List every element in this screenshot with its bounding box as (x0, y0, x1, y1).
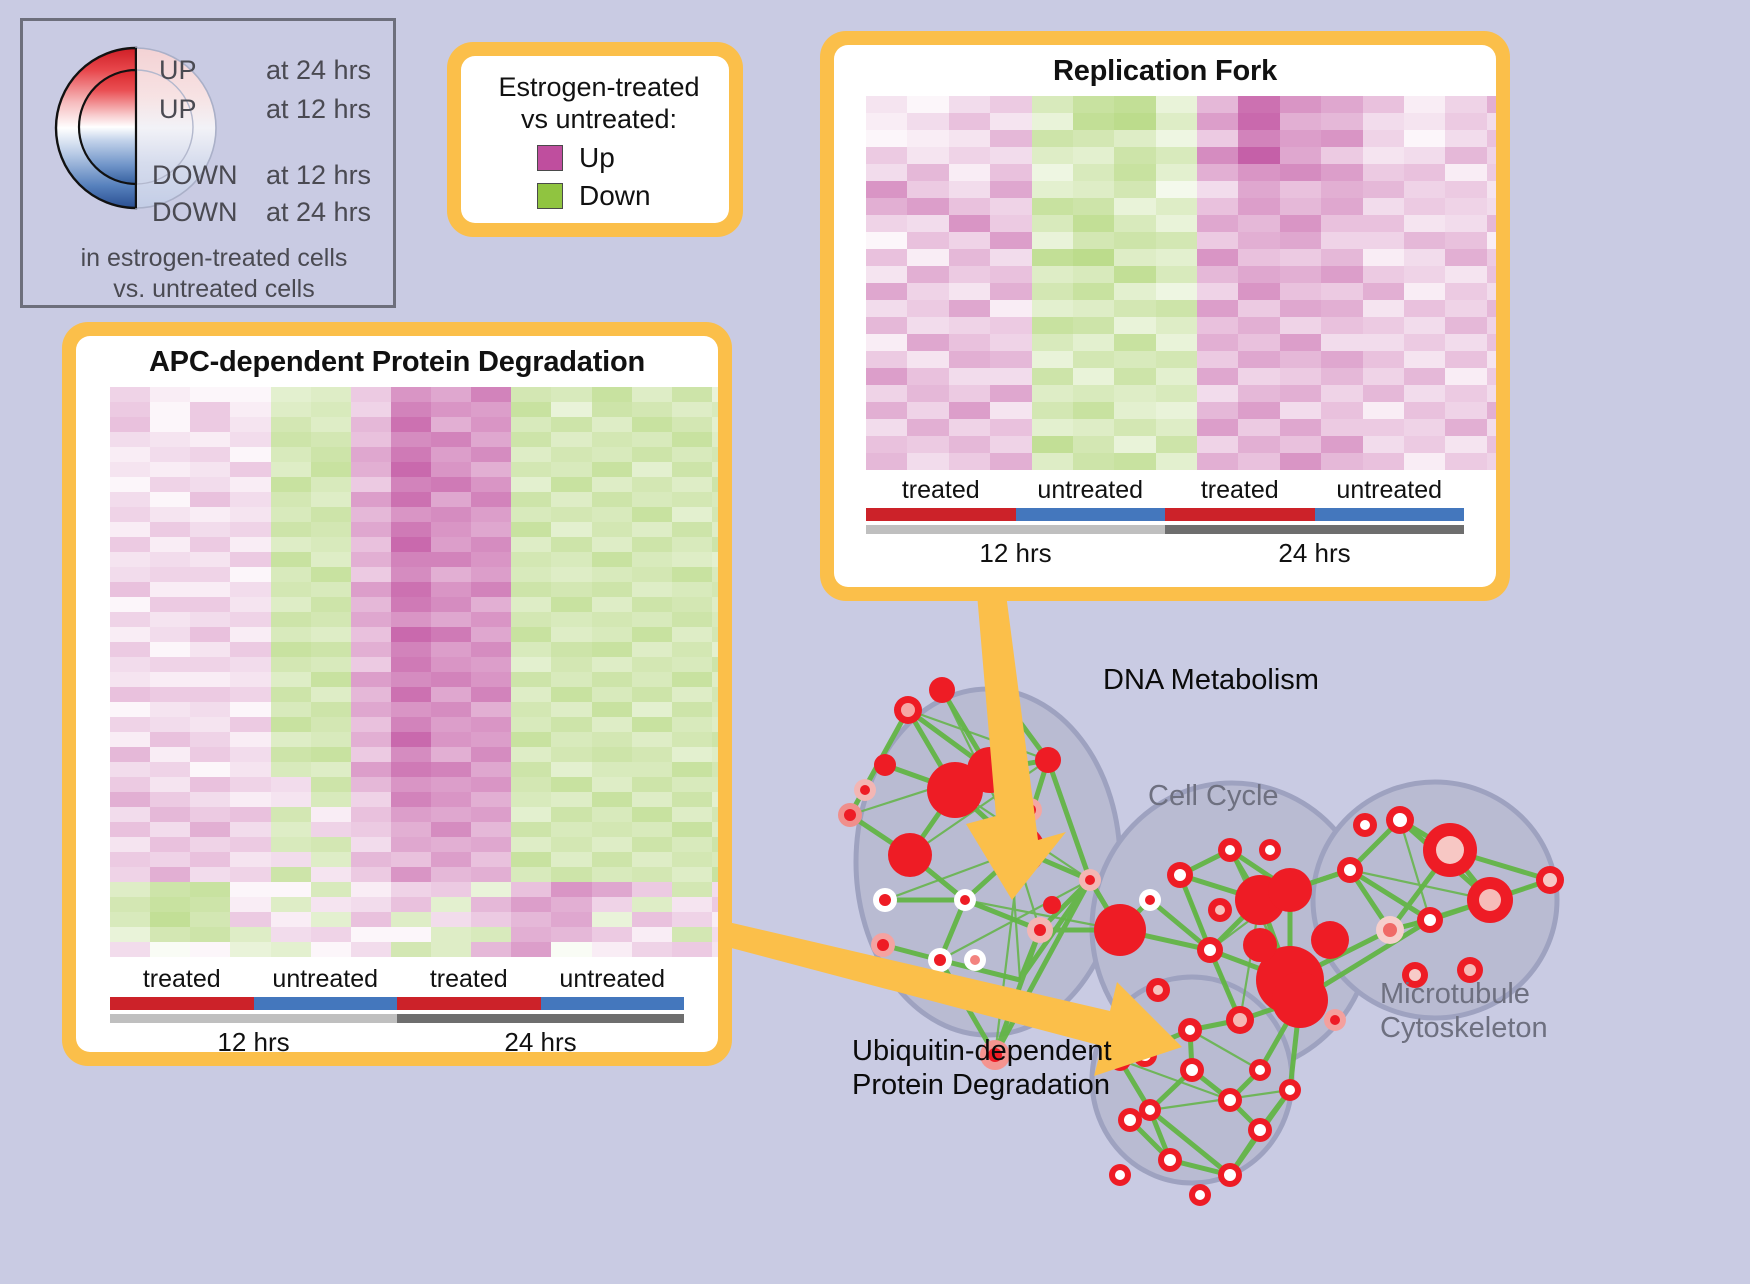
heatmap-cell (1197, 266, 1238, 283)
heatmap-cell (431, 867, 471, 882)
heatmap-cell (110, 792, 150, 807)
heatmap-cell (271, 582, 311, 597)
heatmap-cell (311, 402, 351, 417)
heatmap-cell (511, 537, 551, 552)
heatmap-cell (866, 232, 907, 249)
heatmap-cell (551, 732, 591, 747)
heatmap-cell (471, 402, 511, 417)
heatmap-cell (1445, 96, 1486, 113)
heatmap-cell (190, 777, 230, 792)
heatmap-cell (190, 687, 230, 702)
heatmap-cell (311, 882, 351, 897)
heatmap-cell (949, 385, 990, 402)
heatmap-cell (866, 453, 907, 470)
heatmap-cell (271, 822, 311, 837)
heatmap-cell (1445, 300, 1486, 317)
heatmap-cell (110, 432, 150, 447)
heatmap-cell (351, 507, 391, 522)
heatmap-cell (351, 792, 391, 807)
heatmap-cell (1280, 232, 1321, 249)
heatmap-cell (271, 552, 311, 567)
heatmap-cell (150, 582, 190, 597)
heatmap-cell (990, 351, 1031, 368)
heatmap-cell (471, 912, 511, 927)
heatmap-cell (351, 747, 391, 762)
heatmap-cell (190, 402, 230, 417)
heatmap-cell (1114, 215, 1155, 232)
heatmap-cell (592, 447, 632, 462)
heatmap-cell (271, 762, 311, 777)
heatmap-cell (311, 732, 351, 747)
group-label: treated (1165, 476, 1315, 505)
heatmap-cell (866, 419, 907, 436)
heatmap-cell (311, 597, 351, 612)
heatmap-cell (471, 942, 511, 957)
heatmap-cell (471, 462, 511, 477)
heatmap-cell (150, 792, 190, 807)
heatmap-cell (632, 552, 672, 567)
heatmap-cell (866, 130, 907, 147)
heatmap-cell (230, 897, 270, 912)
heatmap-cell (351, 762, 391, 777)
heatmap-cell (632, 492, 672, 507)
legend-item-up-label: Up (579, 142, 615, 174)
heatmap-cell (351, 552, 391, 567)
heatmap-cell (1445, 385, 1486, 402)
heatmap-cell (1197, 300, 1238, 317)
heatmap-cell (990, 181, 1031, 198)
heatmap-cell (1197, 385, 1238, 402)
heatmap-cell (672, 852, 712, 867)
panel-apc-title: APC-dependent Protein Degradation (76, 336, 718, 379)
heatmap-cell (271, 717, 311, 732)
network-svg (790, 600, 1750, 1279)
heatmap-cell (511, 612, 551, 627)
heatmap-cell (672, 687, 712, 702)
heatmap-cell (230, 942, 270, 957)
legend-updown-heading-line2: vs untreated: (479, 104, 719, 136)
heatmap-cell (551, 777, 591, 792)
heatmap-cell (1445, 147, 1486, 164)
heatmap-cell (592, 927, 632, 942)
heatmap-cell (351, 462, 391, 477)
heatmap-cell (471, 732, 511, 747)
heatmap-cell (949, 147, 990, 164)
heatmap-cell (1238, 130, 1279, 147)
heatmap-cell (712, 537, 718, 552)
heatmap-cell (712, 837, 718, 852)
heatmap-cell (907, 198, 948, 215)
group-label: untreated (1016, 476, 1166, 505)
heatmap-cell (1321, 351, 1362, 368)
heatmap-cell (271, 522, 311, 537)
heatmap-cell (511, 807, 551, 822)
heatmap-cell (110, 762, 150, 777)
heatmap-cell (271, 492, 311, 507)
heatmap-cell (1032, 334, 1073, 351)
heatmap-cell (1114, 113, 1155, 130)
heatmap-cell (672, 822, 712, 837)
heatmap-cell (1197, 249, 1238, 266)
heatmap-cell (712, 552, 718, 567)
heatmap-cell (471, 747, 511, 762)
heatmap-cell (431, 387, 471, 402)
heatmap-cell (351, 657, 391, 672)
heatmap-cell (1156, 198, 1197, 215)
heatmap-cell (150, 597, 190, 612)
heatmap-cell (1073, 385, 1114, 402)
heatmap-cell (551, 432, 591, 447)
heatmap-cell (1197, 453, 1238, 470)
heatmap-cell (391, 537, 431, 552)
heatmap-cell (190, 582, 230, 597)
heatmap-cell (511, 777, 551, 792)
heatmap-cell (311, 762, 351, 777)
heatmap-cell (1363, 334, 1404, 351)
heatmap-cell (1363, 232, 1404, 249)
heatmap-cell (551, 687, 591, 702)
heatmap-cell (271, 837, 311, 852)
heatmap-cell (592, 387, 632, 402)
heatmap-cell (712, 912, 718, 927)
heatmap-cell (1032, 130, 1073, 147)
heatmap-cell (1156, 436, 1197, 453)
heatmap-cell (431, 657, 471, 672)
heatmap-cell (1156, 96, 1197, 113)
heatmap-cell (592, 882, 632, 897)
heatmap-cell (949, 215, 990, 232)
heatmap-cell (230, 462, 270, 477)
heatmap-cell (592, 582, 632, 597)
heatmap-cell (190, 732, 230, 747)
heatmap-cell (431, 687, 471, 702)
heatmap-cell (632, 672, 672, 687)
heatmap-cell (271, 597, 311, 612)
heatmap-cell (672, 447, 712, 462)
heatmap-cell (110, 582, 150, 597)
cluster-label-dna-metabolism: DNA Metabolism (1103, 664, 1319, 698)
heatmap-cell (1032, 283, 1073, 300)
heatmap-cell (1445, 198, 1486, 215)
time-label: 12 hrs (110, 1027, 397, 1052)
heatmap-cell (271, 642, 311, 657)
heatmap-cell (110, 552, 150, 567)
heatmap-cell (431, 417, 471, 432)
heatmap-cell (431, 492, 471, 507)
cluster-label-cell-cycle: Cell Cycle (1148, 780, 1279, 814)
heatmap-cell (311, 522, 351, 537)
legend-caption-line1: in estrogen-treated cells (59, 243, 369, 274)
heatmap-cell (907, 453, 948, 470)
heatmap-cell (990, 385, 1031, 402)
heatmap-cell (511, 432, 551, 447)
heatmap-cell (907, 147, 948, 164)
heatmap-cell (110, 627, 150, 642)
heatmap-cell (990, 334, 1031, 351)
heatmap-cell (190, 717, 230, 732)
heatmap-cell (672, 507, 712, 522)
heatmap-cell (866, 164, 907, 181)
heatmap-cell (949, 130, 990, 147)
heatmap-cell (949, 334, 990, 351)
heatmap-cell (190, 432, 230, 447)
heatmap-cell (150, 642, 190, 657)
heatmap-cell (431, 612, 471, 627)
heatmap-cell (471, 537, 511, 552)
heatmap-cell (391, 852, 431, 867)
heatmap-cell (712, 432, 718, 447)
heatmap-cell (110, 852, 150, 867)
heatmap-cell (712, 942, 718, 957)
heatmap-cell (150, 777, 190, 792)
heatmap-cell (1114, 130, 1155, 147)
heatmap-cell (271, 462, 311, 477)
group-color-bars-replication (866, 508, 1464, 521)
heatmap-cell (1487, 402, 1496, 419)
heatmap-cell (1156, 402, 1197, 419)
heatmap-cell (511, 687, 551, 702)
heatmap-cell (150, 867, 190, 882)
heatmap-cell (1114, 402, 1155, 419)
heatmap-cell (1156, 215, 1197, 232)
heatmap-cell (391, 417, 431, 432)
legend-updown-heading-line1: Estrogen-treated (479, 72, 719, 104)
heatmap-cell (1404, 130, 1445, 147)
heatmap-cell (271, 732, 311, 747)
heatmap-cell (1156, 368, 1197, 385)
heatmap-cell (190, 672, 230, 687)
heatmap-cell (230, 552, 270, 567)
heatmap-cell (672, 537, 712, 552)
heatmap-cell (311, 552, 351, 567)
heatmap-cell (1073, 436, 1114, 453)
heatmap-cell (1238, 419, 1279, 436)
heatmap-cell (150, 732, 190, 747)
legend-row-state-3: DOWN (152, 197, 237, 228)
heatmap-cell (1280, 181, 1321, 198)
heatmap-cell (907, 317, 948, 334)
heatmap-cell (511, 762, 551, 777)
heatmap-cell (712, 597, 718, 612)
heatmap-cell (431, 822, 471, 837)
heatmap-cell (949, 198, 990, 215)
heatmap-cell (150, 837, 190, 852)
group-color-bars-apc (110, 997, 684, 1010)
heatmap-cell (551, 567, 591, 582)
heatmap-cell (511, 582, 551, 597)
heatmap-cell (712, 702, 718, 717)
heatmap-cell (471, 657, 511, 672)
group-label: treated (397, 965, 541, 994)
group-label: untreated (1315, 476, 1465, 505)
heatmap-cell (907, 283, 948, 300)
heatmap-cell (907, 419, 948, 436)
heatmap-cell (511, 732, 551, 747)
heatmap-cell (866, 317, 907, 334)
heatmap-cell (1363, 351, 1404, 368)
heatmap-cell (1032, 351, 1073, 368)
heatmap-cell (351, 897, 391, 912)
heatmap-cell (431, 462, 471, 477)
time-color-bar (110, 1014, 397, 1023)
heatmap-cell (150, 672, 190, 687)
heatmap-cell (632, 387, 672, 402)
heatmap-cell (351, 522, 391, 537)
heatmap-cell (1321, 402, 1362, 419)
heatmap-cell (271, 702, 311, 717)
heatmap-cell (471, 507, 511, 522)
heatmap-cell (311, 612, 351, 627)
heatmap-cell (1487, 147, 1496, 164)
heatmap-cell (1032, 300, 1073, 317)
heatmap-cell (431, 552, 471, 567)
legend-updown-box: Estrogen-treated vs untreated: Up Down (447, 42, 743, 237)
heatmap-cell (1238, 113, 1279, 130)
heatmap-cell (551, 462, 591, 477)
heatmap-cell (1073, 198, 1114, 215)
heatmap-cell (311, 792, 351, 807)
heatmap-cell (1321, 283, 1362, 300)
heatmap-cell (110, 522, 150, 537)
heatmap-cell (150, 687, 190, 702)
heatmap-cell (551, 717, 591, 732)
heatmap-cell (230, 402, 270, 417)
heatmap-cell (311, 492, 351, 507)
heatmap-cell (1156, 300, 1197, 317)
heatmap-cell (110, 717, 150, 732)
heatmap-cell (1114, 317, 1155, 334)
heatmap-cell (592, 702, 632, 717)
heatmap-cell (110, 417, 150, 432)
heatmap-cell (351, 912, 391, 927)
heatmap-cell (351, 447, 391, 462)
heatmap-cell (1487, 266, 1496, 283)
heatmap-cell (230, 717, 270, 732)
heatmap-cell (1445, 368, 1486, 385)
heatmap-cell (391, 702, 431, 717)
heatmap-cell (1238, 283, 1279, 300)
heatmap-cell (990, 419, 1031, 436)
heatmap-cell (1032, 419, 1073, 436)
heatmap-cell (271, 942, 311, 957)
heatmap-cell (110, 867, 150, 882)
heatmap-cell (110, 567, 150, 582)
heatmap-cell (150, 477, 190, 492)
heatmap-cell (150, 537, 190, 552)
heatmap-cell (907, 351, 948, 368)
heatmap-cell (230, 657, 270, 672)
heatmap-cell (391, 732, 431, 747)
heatmap-cell (511, 852, 551, 867)
legend-row-time-1: at 12 hrs (266, 94, 371, 125)
heatmap-cell (431, 792, 471, 807)
heatmap-cell (1487, 368, 1496, 385)
heatmap-cell (551, 852, 591, 867)
time-color-bars-apc (110, 1014, 684, 1023)
heatmap-cell (592, 912, 632, 927)
heatmap-cell (632, 582, 672, 597)
heatmap-cell (511, 942, 551, 957)
heatmap-cell (1404, 181, 1445, 198)
heatmap-cell (391, 627, 431, 642)
heatmap-cell (311, 822, 351, 837)
heatmap-cell (949, 249, 990, 266)
heatmap-cell (110, 747, 150, 762)
heatmap-cell (551, 417, 591, 432)
heatmap-cell (1032, 266, 1073, 283)
heatmap-cell (110, 402, 150, 417)
heatmap-cell (511, 822, 551, 837)
heatmap-cell (391, 792, 431, 807)
heatmap-cell (311, 477, 351, 492)
heatmap-cell (1114, 385, 1155, 402)
heatmap-cell (551, 792, 591, 807)
heatmap-cell (1156, 181, 1197, 198)
heatmap-cell (311, 702, 351, 717)
heatmap-cell (271, 852, 311, 867)
heatmap-cell (1363, 130, 1404, 147)
heatmap-cell (990, 249, 1031, 266)
axis-replication: treateduntreatedtreateduntreated 12 hrs2… (866, 476, 1464, 569)
heatmap-cell (391, 912, 431, 927)
heatmap-cell (471, 492, 511, 507)
heatmap-cell (1321, 181, 1362, 198)
heatmap-cell (907, 249, 948, 266)
heatmap-cell (1156, 334, 1197, 351)
cluster-label-microtubule-cytoskeleton: Microtubule Cytoskeleton (1380, 978, 1548, 1045)
heatmap-cell (551, 912, 591, 927)
heatmap-cell (471, 627, 511, 642)
heatmap-cell (230, 777, 270, 792)
heatmap-cell (632, 522, 672, 537)
heatmap-cell (110, 732, 150, 747)
heatmap-cell (949, 96, 990, 113)
heatmap-cell (271, 447, 311, 462)
heatmap-cell (1487, 351, 1496, 368)
heatmap-cell (1445, 334, 1486, 351)
heatmap-cell (1073, 249, 1114, 266)
heatmap-cell (190, 747, 230, 762)
heatmap-cell (1238, 453, 1279, 470)
heatmap-cell (391, 687, 431, 702)
heatmap-cell (431, 537, 471, 552)
heatmap-cell (551, 867, 591, 882)
heatmap-cell (632, 432, 672, 447)
heatmap-cell (1280, 113, 1321, 130)
heatmap-cell (672, 462, 712, 477)
heatmap-cell (391, 882, 431, 897)
heatmap-cell (230, 642, 270, 657)
heatmap-cell (271, 927, 311, 942)
heatmap-cell (907, 164, 948, 181)
heatmap-cell (391, 672, 431, 687)
heatmap-cell (1073, 351, 1114, 368)
heatmap-cell (1404, 113, 1445, 130)
heatmap-cell (712, 927, 718, 942)
heatmap-cell (1321, 113, 1362, 130)
group-color-bar (541, 997, 685, 1010)
legend-item-down: Down (537, 180, 719, 212)
heatmap-cell (391, 747, 431, 762)
heatmap-cell (592, 627, 632, 642)
heatmap-cell (1073, 232, 1114, 249)
heatmap-cell (1404, 283, 1445, 300)
heatmap-cell (271, 747, 311, 762)
heatmap-cell (311, 582, 351, 597)
heatmap-cell (351, 627, 391, 642)
heatmap-cell (511, 447, 551, 462)
heatmap-cell (190, 657, 230, 672)
